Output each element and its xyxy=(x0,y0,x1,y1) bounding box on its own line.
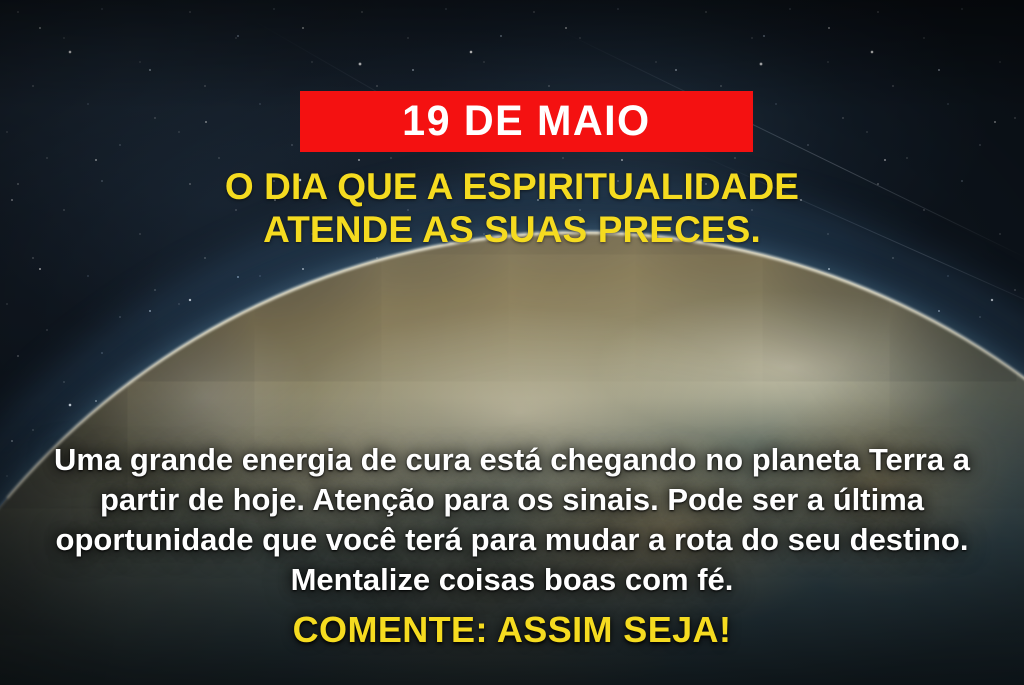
headline-line-1: O DIA QUE A ESPIRITUALIDADE xyxy=(40,166,984,209)
poster-canvas: 19 DE MAIO O DIA QUE A ESPIRITUALIDADE A… xyxy=(0,0,1024,685)
headline: O DIA QUE A ESPIRITUALIDADE ATENDE AS SU… xyxy=(0,166,1024,252)
date-banner: 19 DE MAIO xyxy=(300,91,753,152)
call-to-action-label: COMENTE: ASSIM SEJA! xyxy=(0,612,1024,648)
headline-line-2: ATENDE AS SUAS PRECES. xyxy=(40,209,984,252)
poster-content: 19 DE MAIO O DIA QUE A ESPIRITUALIDADE A… xyxy=(0,0,1024,685)
date-banner-label: 19 DE MAIO xyxy=(402,100,650,143)
body-paragraph: Uma grande energia de cura está chegando… xyxy=(50,440,974,600)
